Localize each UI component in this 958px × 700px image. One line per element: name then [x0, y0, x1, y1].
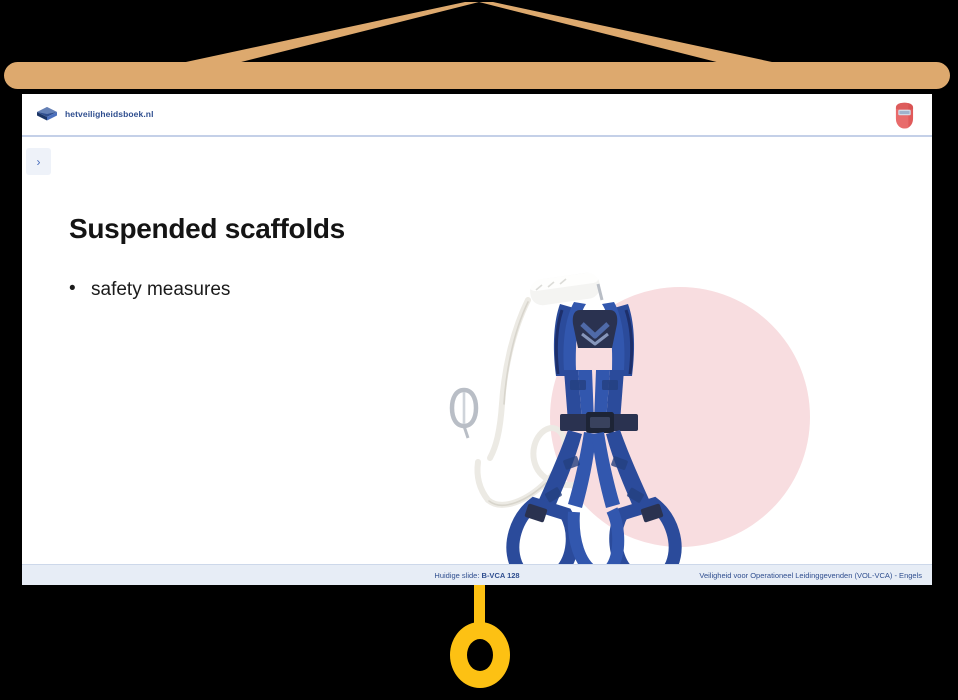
chevron-right-icon: ›	[37, 156, 41, 168]
slide-footer: Huidige slide: B-VCA 128 Veiligheid voor…	[22, 564, 932, 585]
safety-harness-illustration	[442, 262, 842, 585]
slide-title: Suspended scaffolds	[69, 213, 345, 245]
wooden-hanger-bar	[4, 62, 950, 89]
sidebar-toggle-button[interactable]: ›	[26, 148, 51, 175]
slide-body: › Suspended scaffolds safety measures	[22, 137, 932, 562]
slide-panel: hetveiligheidsboek.nl › Suspended scaffo…	[22, 94, 932, 585]
course-title: Veiligheid voor Operationeel Leidinggeve…	[699, 571, 922, 580]
list-item: safety measures	[69, 277, 230, 303]
brand[interactable]: hetveiligheidsboek.nl	[36, 105, 154, 123]
current-slide-value: B-VCA 128	[482, 571, 520, 580]
diamond-logo-icon	[36, 105, 58, 123]
current-slide-label: Huidige slide:	[434, 571, 479, 580]
yellow-pull-ring[interactable]	[450, 622, 510, 688]
slide-bullet-list: safety measures	[69, 277, 230, 303]
screen-root: hetveiligheidsboek.nl › Suspended scaffo…	[0, 0, 958, 700]
carabiner-hook	[452, 390, 476, 438]
slide-header: hetveiligheidsboek.nl	[22, 94, 932, 137]
top-connector	[598, 284, 602, 300]
brand-label: hetveiligheidsboek.nl	[65, 109, 154, 119]
current-slide-indicator: Huidige slide: B-VCA 128	[434, 571, 519, 580]
shock-absorber-pack	[529, 271, 602, 306]
welding-helmet-icon[interactable]	[891, 102, 918, 130]
